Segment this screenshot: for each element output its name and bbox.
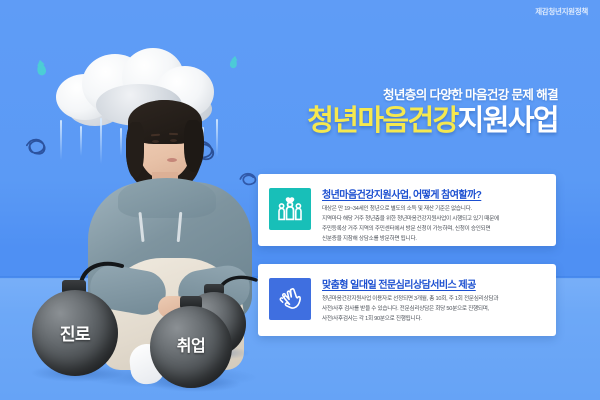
info-card-line: 신분증을 지참해 상담소를 방문하면 됩니다. <box>322 235 544 245</box>
info-card-body: 맞춤형 일대일 전문심리상담서비스 제공 청년마음건강지원사업 이용자로 선정되… <box>322 275 544 325</box>
info-card-line: 지역마다 해당 거주 청년층을 위한 청년마음건강지원사업이 시행되고 있기 때… <box>322 215 544 225</box>
info-card-text: 청년마음건강지원사업 이용자로 선정되면 3개월, 총 10회, 주 1회 전문… <box>322 295 544 325</box>
scribble-doodle-icon <box>20 130 54 164</box>
headline-kicker: 청년층의 다양한 마음건강 문제 해결 <box>258 84 558 103</box>
info-card-line: 대상은 만 19~34세인 청년으로 별도의 소득 및 재산 기준은 없습니다. <box>322 205 544 215</box>
people-heart-icon <box>269 188 311 230</box>
info-card-line: 청년마음건강지원사업 이용자로 선정되면 3개월, 총 10회, 주 1회 전문… <box>322 295 544 305</box>
info-card-title: 청년마음건강지원사업, 어떻게 참여할까? <box>322 186 544 201</box>
poster-root: 제감청년지원정책 <box>0 0 600 400</box>
bomb-career: 진로 <box>28 268 128 376</box>
helping-hands-icon <box>269 278 311 320</box>
info-card-counseling[interactable]: 맞춤형 일대일 전문심리상담서비스 제공 청년마음건강지원사업 이용자로 선정되… <box>258 264 556 336</box>
bomb-employment-label: 취업 <box>150 332 232 356</box>
bomb-employment: 취업 <box>148 288 246 388</box>
info-card-title: 맞춤형 일대일 전문심리상담서비스 제공 <box>322 276 544 291</box>
title-rest: 지원사업 <box>458 105 558 137</box>
page-title: 청년마음건강지원사업 <box>258 106 558 137</box>
info-card-body: 청년마음건강지원사업, 어떻게 참여할까? 대상은 만 19~34세인 청년으로… <box>322 185 544 245</box>
headline-block: 청년층의 다양한 마음건강 문제 해결 청년마음건강지원사업 <box>258 84 558 137</box>
info-card-line: 주민등록상 거주 지역의 주민센터에서 방문 신청이 가능하며, 신청이 승인되… <box>322 225 544 235</box>
info-card-line: 사전/사후 검사를 받을 수 있습니다. 전문심리상담은 회당 50분으로 진행… <box>322 305 544 315</box>
policy-tag: 제감청년지원정책 <box>535 6 588 17</box>
info-card-participation[interactable]: 청년마음건강지원사업, 어떻게 참여할까? 대상은 만 19~34세인 청년으로… <box>258 174 556 246</box>
info-card-line: 사전/사후검사는 각 1회 90분으로 진행됩니다. <box>322 315 544 325</box>
info-card-text: 대상은 만 19~34세인 청년으로 별도의 소득 및 재산 기준은 없습니다.… <box>322 205 544 245</box>
title-highlight: 청년마음건강 <box>307 105 457 137</box>
bomb-career-label: 진로 <box>32 320 118 345</box>
